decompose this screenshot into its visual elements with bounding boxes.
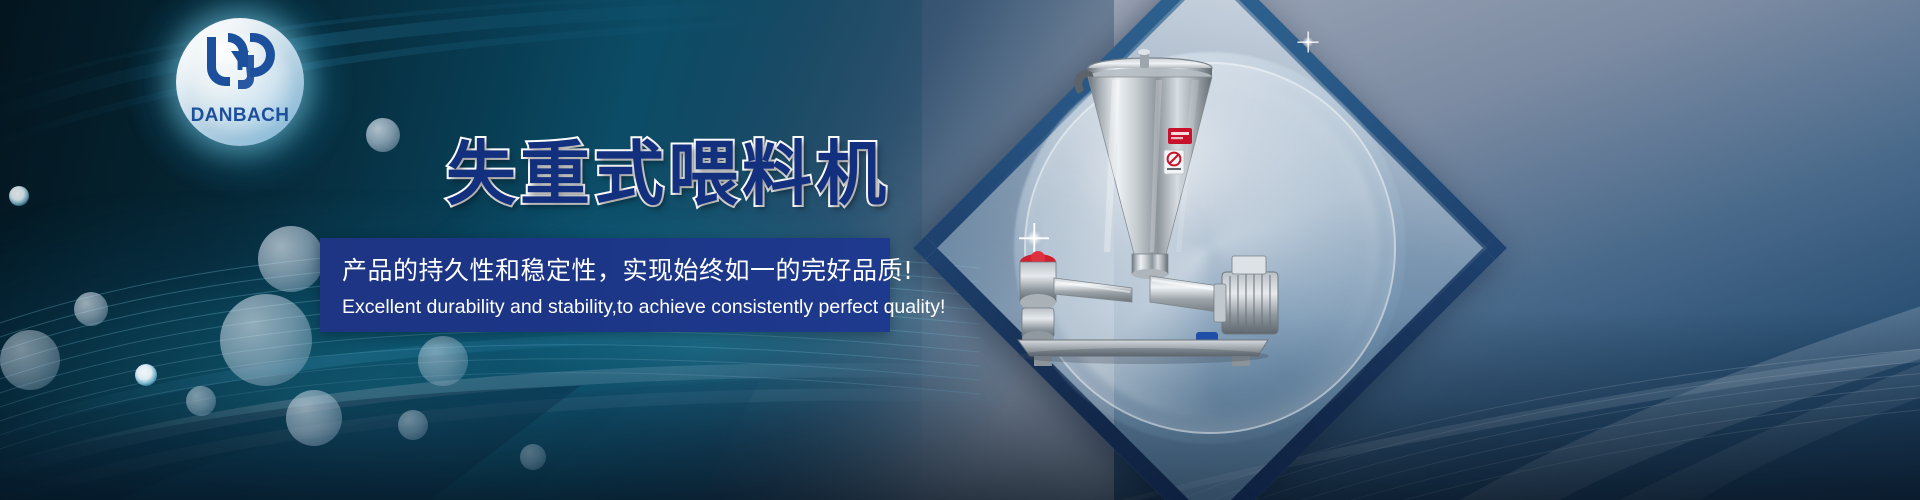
danbach-monogram-icon [201,31,279,89]
loss-in-weight-feeder-machine [1000,40,1300,370]
tagline-english: Excellent durability and stability,to ac… [342,296,890,319]
tagline-card: 产品的持久性和稳定性，实现始终如一的完好品质! Excellent durabi… [320,238,890,332]
sparkle-icon [1302,36,1313,47]
danbach-logo[interactable]: DANBACH [176,18,304,146]
logo-wordmark: DANBACH [176,105,304,127]
tagline-chinese: 产品的持久性和稳定性，实现始终如一的完好品质! [342,251,890,287]
page-title: 失重式喂料机 [446,118,890,219]
product-banner: DANBACH [0,0,1920,500]
